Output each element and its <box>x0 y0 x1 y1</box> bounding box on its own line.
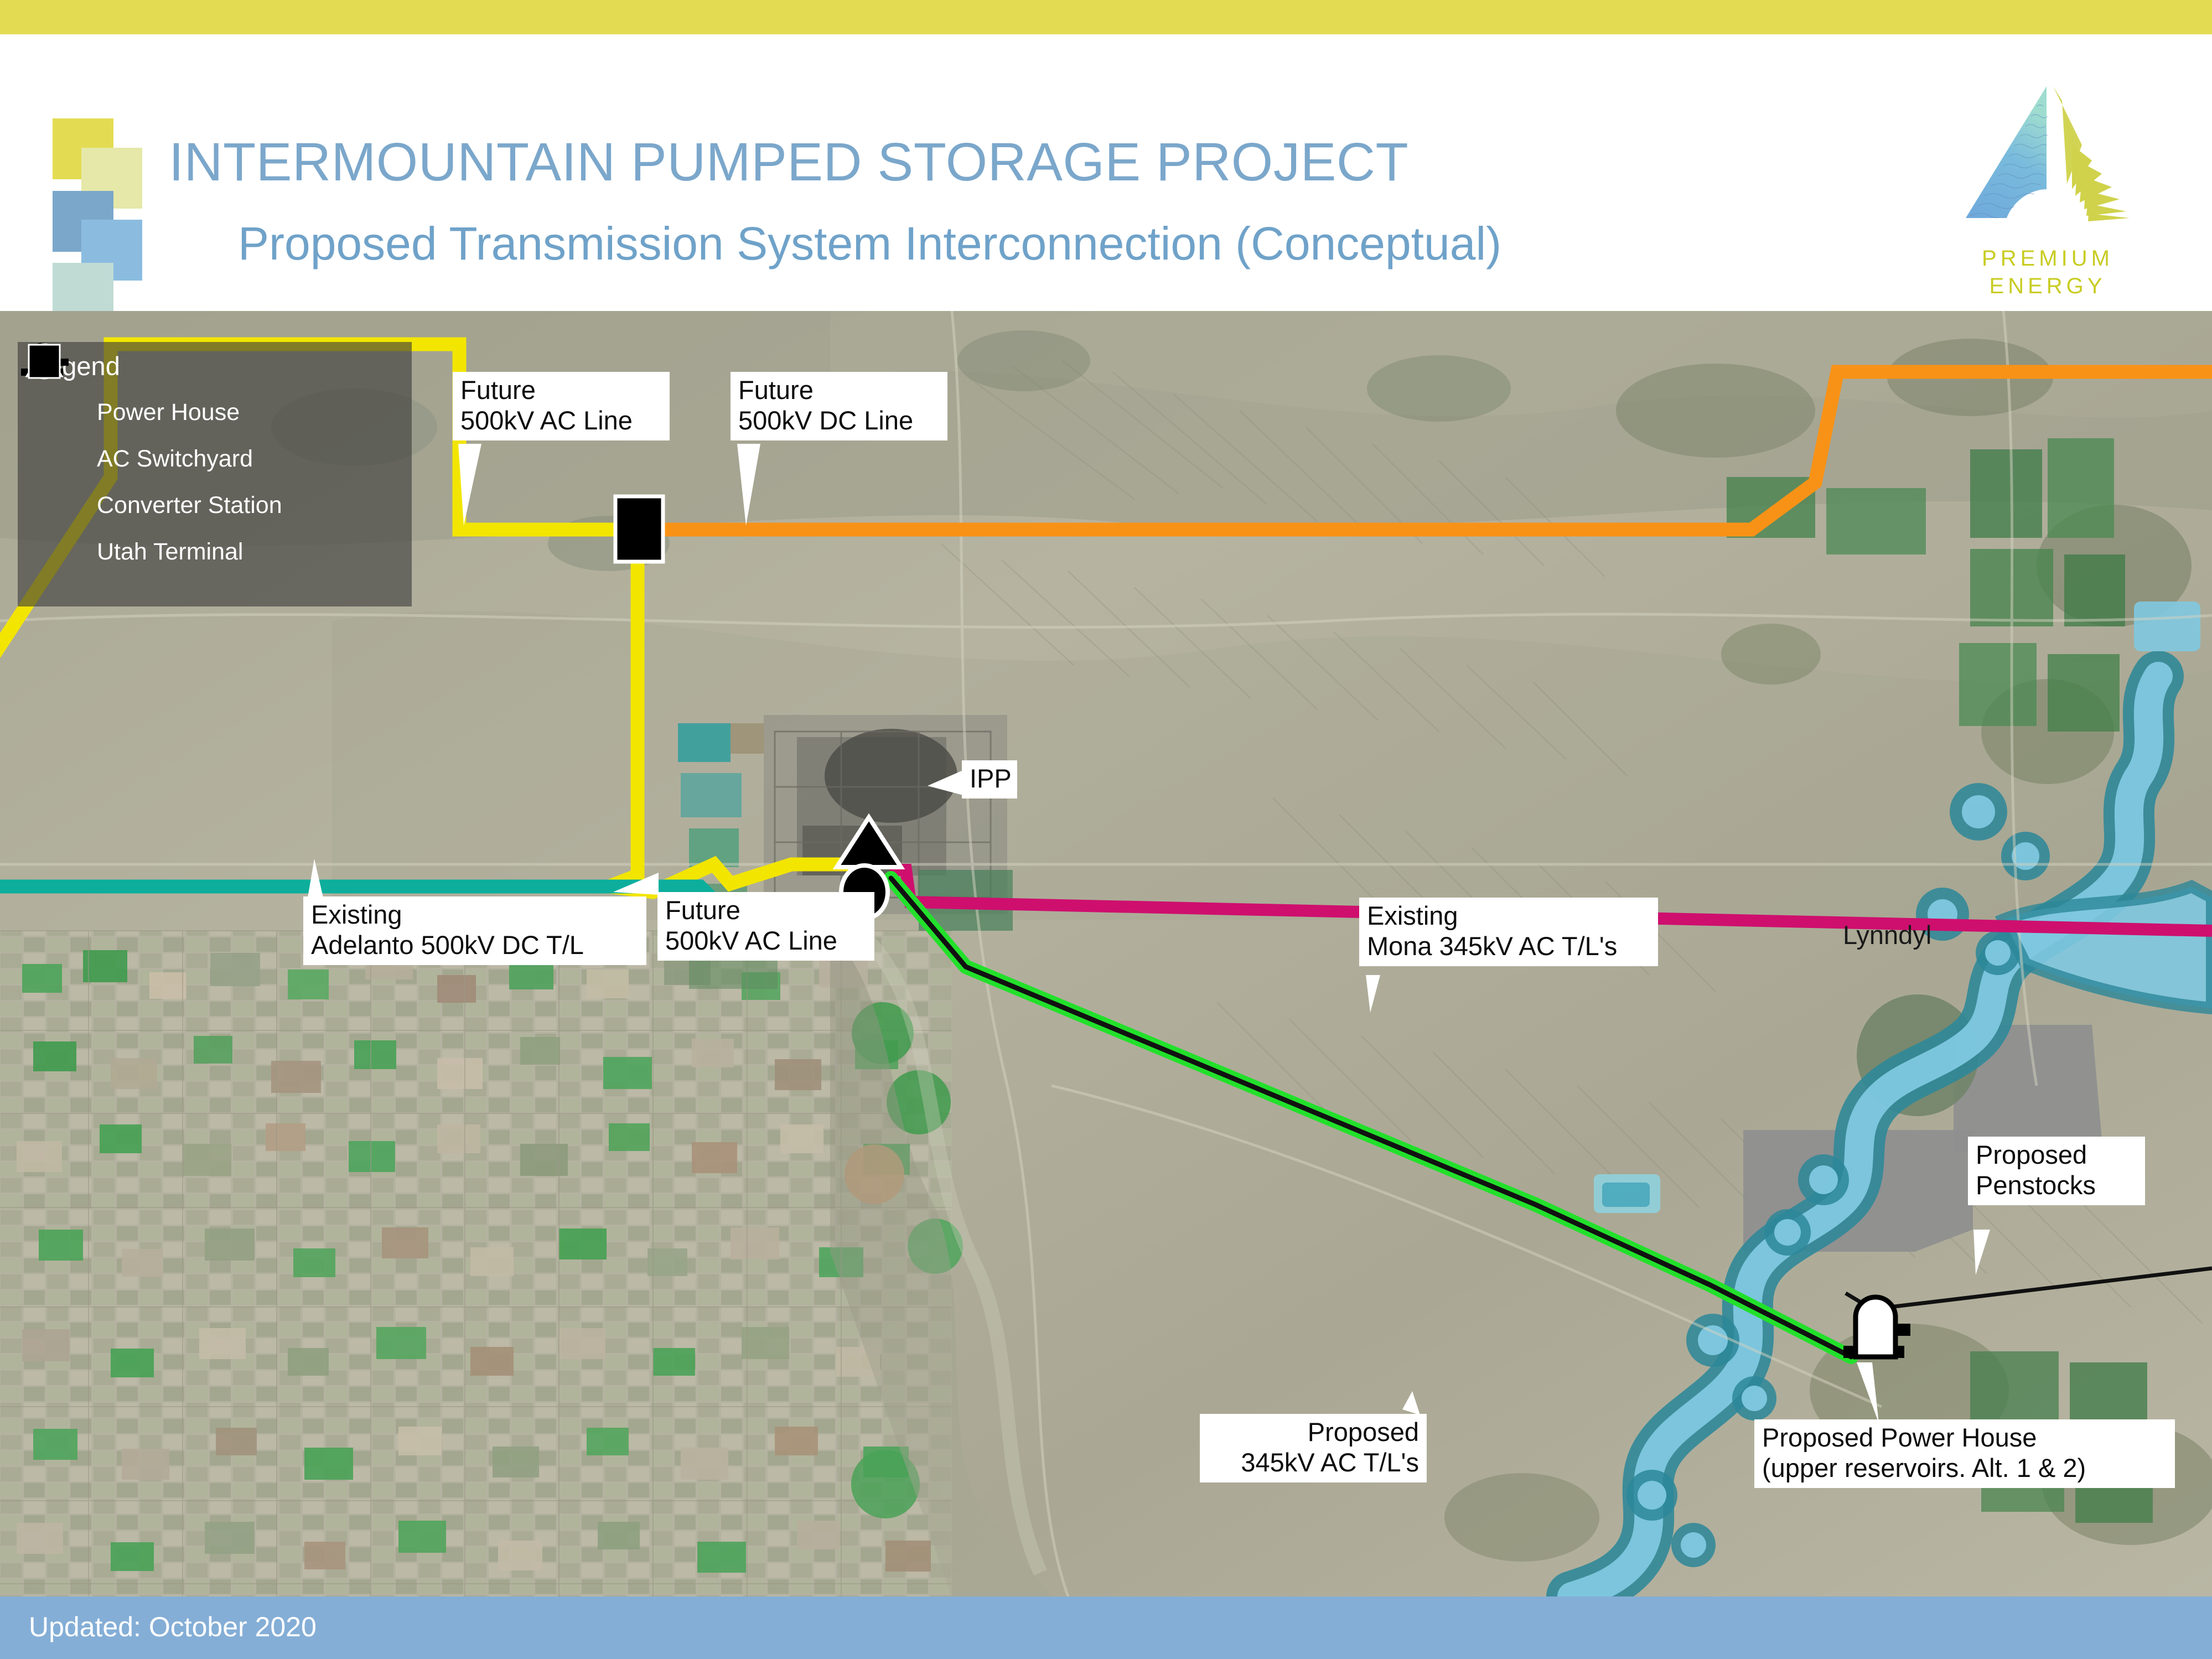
logo-triangle-icon <box>1954 79 2142 250</box>
legend-panel: Legend Power House AC Switchy <box>18 342 412 606</box>
utah-terminal-marker <box>615 496 663 562</box>
premium-energy-logo: PREMIUM ENERGY <box>1954 79 2142 317</box>
legend-label: Converter Station <box>97 492 282 519</box>
footer-updated-text: Updated: October 2020 <box>29 1611 317 1643</box>
legend-label: Power House <box>97 399 240 426</box>
satellite-map[interactable]: Legend Power House AC Switchy <box>0 311 2212 1596</box>
callout-proposed-345kv: Proposed 345kV AC T/L's <box>1200 1414 1427 1482</box>
legend-label: AC Switchyard <box>97 445 253 473</box>
top-accent-bar <box>0 0 2212 34</box>
legend-item-ac-switchyard: AC Switchyard <box>33 436 412 483</box>
poster-root: INTERMOUNTAIN PUMPED STORAGE PROJECT Pro… <box>0 0 2212 1659</box>
legend-item-utah-terminal: Utah Terminal <box>33 529 412 576</box>
callout-future-500kv-ac-mid: Future 500kV AC Line <box>657 892 874 961</box>
header: INTERMOUNTAIN PUMPED STORAGE PROJECT Pro… <box>0 34 2212 311</box>
callout-existing-adelanto: Existing Adelanto 500kV DC T/L <box>303 896 646 965</box>
legend-title: Legend <box>33 352 412 381</box>
logo-text-premium: PREMIUM <box>1954 245 2142 272</box>
logo-text-energy: ENERGY <box>1954 272 2142 300</box>
callout-proposed-penstocks: Proposed Penstocks <box>1968 1137 2145 1205</box>
legend-label: Utah Terminal <box>97 538 244 566</box>
legend-item-power-house: Power House <box>33 390 412 436</box>
callout-future-500kv-dc: Future 500kV DC Line <box>731 372 947 440</box>
callout-proposed-power-house: Proposed Power House (upper reservoirs. … <box>1754 1419 2175 1488</box>
page-subtitle: Proposed Transmission System Interconnec… <box>238 217 1501 271</box>
callout-future-500kv-ac-left: Future 500kV AC Line <box>453 372 670 440</box>
callout-ipp: IPP <box>962 760 1017 799</box>
legend-item-converter-station: Converter Station <box>33 483 412 529</box>
footer-bar: Updated: October 2020 <box>0 1596 2212 1659</box>
page-title: INTERMOUNTAIN PUMPED STORAGE PROJECT <box>169 131 1408 193</box>
callout-existing-mona: Existing Mona 345kV AC T/L's <box>1359 898 1658 966</box>
map-place-label-lynndyl: Lynndyl <box>1843 920 1931 950</box>
